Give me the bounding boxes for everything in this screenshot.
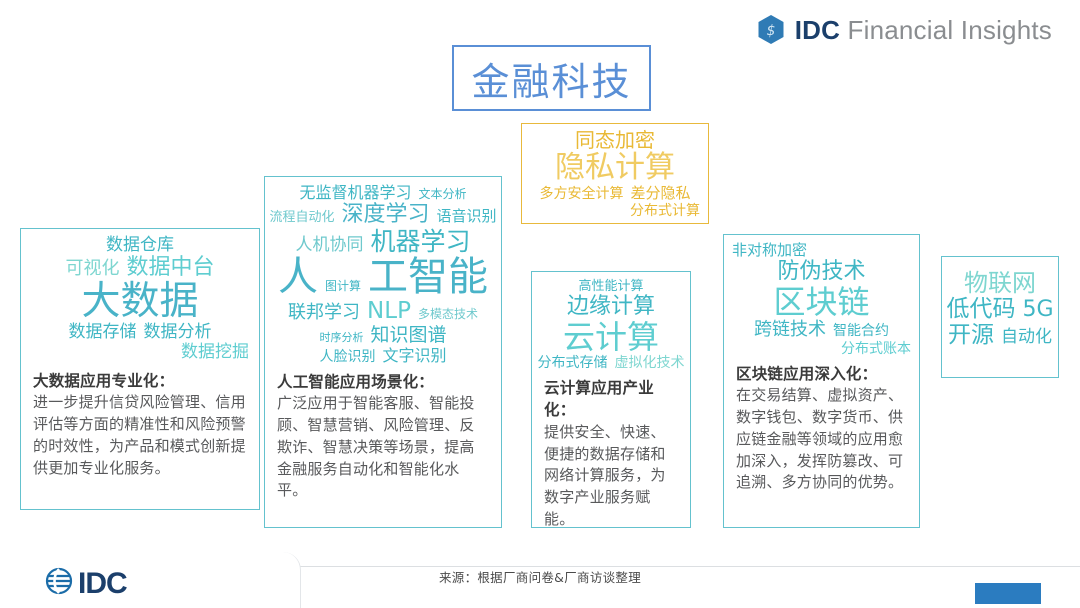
wordcloud-term: 工智能 — [368, 257, 488, 297]
wordcloud-term: 流程自动化 — [269, 211, 334, 224]
card-text: 提供安全、快速、便捷的数据存储和网络计算服务，为数字产业服务赋能。 — [544, 422, 678, 531]
wordcloud-term: 5G — [1022, 299, 1053, 321]
wordcloud-cloud-computing: 高性能计算边缘计算云计算分布式存储虚拟化技术 — [532, 272, 690, 377]
wordcloud-term: 自动化 — [1001, 329, 1052, 346]
wordcloud-row: 人机协同机器学习 — [273, 229, 493, 254]
card-heading: 云计算应用产业化： — [544, 377, 678, 422]
wordcloud-term: 数据存储 — [69, 324, 137, 341]
brand-name: IDC Financial Insights — [795, 17, 1052, 43]
idc-hexagon-dollar-icon: $ — [757, 14, 785, 45]
wordcloud-row: 分布式存储虚拟化技术 — [538, 356, 684, 370]
wordcloud-iot-others: 物联网低代码5G开源自动化 — [942, 257, 1058, 356]
card-heading: 大数据应用专业化： — [33, 370, 247, 392]
wordcloud-term: 时序分析 — [319, 332, 363, 343]
wordcloud-row: 非对称加密 — [732, 243, 911, 258]
wordcloud-row: 时序分析知识图谱 — [273, 326, 493, 345]
wordcloud-term: 人 — [278, 257, 318, 297]
wordcloud-row: 边缘计算 — [538, 296, 684, 318]
wordcloud-term: 人脸识别 — [319, 350, 375, 364]
card-big-data[interactable]: 数据仓库可视化数据中台大数据数据存储数据分析数据挖掘 大数据应用专业化： 进一步… — [20, 228, 260, 510]
card-body-blockchain: 区块链应用深入化： 在交易结算、虚拟资产、数字钱包、数字货币、供应链金融等领域的… — [724, 363, 919, 504]
card-body-cloud-computing: 云计算应用产业化： 提供安全、快速、便捷的数据存储和网络计算服务，为数字产业服务… — [532, 377, 690, 541]
wordcloud-term: 高性能计算 — [578, 280, 643, 293]
wordcloud-row: 区块链 — [732, 286, 911, 318]
wordcloud-term: 大数据 — [81, 282, 198, 321]
wordcloud-term: 开源 — [948, 324, 994, 347]
wordcloud-term: 分布式存储 — [538, 356, 608, 370]
card-iot-others[interactable]: 物联网低代码5G开源自动化 — [941, 256, 1059, 378]
wordcloud-term: 防伪技术 — [777, 261, 865, 283]
wordcloud-term: 联邦学习 — [288, 304, 360, 322]
wordcloud-term: 数据挖掘 — [181, 344, 249, 361]
wordcloud-term: 智能合约 — [833, 324, 889, 338]
wordcloud-row: 人图计算工智能 — [273, 257, 493, 297]
wordcloud-term: 人机协同 — [295, 237, 363, 254]
wordcloud-term: 边缘计算 — [567, 296, 655, 318]
brand-header: $ IDC Financial Insights — [757, 14, 1052, 45]
wordcloud-row: 隐私计算 — [530, 153, 700, 183]
wordcloud-term: 语音识别 — [437, 209, 497, 224]
wordcloud-term: 非对称加密 — [732, 243, 807, 258]
wordcloud-term: 深度学习 — [342, 204, 430, 226]
wordcloud-term: 知识图谱 — [370, 326, 446, 345]
wordcloud-row: 分布式计算 — [530, 204, 700, 218]
card-heading: 人工智能应用场景化： — [277, 371, 489, 393]
wordcloud-row: 数据存储数据分析 — [31, 324, 249, 341]
wordcloud-term: 区块链 — [773, 286, 869, 318]
page-title: 金融科技 — [452, 45, 651, 111]
wordcloud-term: 机器学习 — [370, 229, 470, 254]
card-blockchain[interactable]: 非对称加密防伪技术区块链跨链技术智能合约分布式账本 区块链应用深入化： 在交易结… — [723, 234, 920, 528]
brand-idc-text: IDC — [795, 15, 840, 45]
wordcloud-term: 低代码 — [946, 298, 1015, 321]
card-heading: 区块链应用深入化： — [736, 363, 907, 385]
wordcloud-row: 数据挖掘 — [31, 344, 249, 361]
wordcloud-row: 流程自动化深度学习语音识别 — [273, 204, 493, 226]
wordcloud-blockchain: 非对称加密防伪技术区块链跨链技术智能合约分布式账本 — [724, 235, 919, 363]
wordcloud-term: 多方安全计算 — [539, 187, 623, 201]
card-artificial-intelligence[interactable]: 无监督机器学习文本分析流程自动化深度学习语音识别人机协同机器学习人图计算工智能联… — [264, 176, 502, 528]
wordcloud-term: 分布式账本 — [841, 342, 911, 356]
svg-text:$: $ — [766, 23, 775, 39]
card-body-artificial-intelligence: 人工智能应用场景化： 广泛应用于智能客服、智能投顾、智慧营销、风险管理、反欺诈、… — [265, 371, 501, 512]
slide-canvas: $ IDC Financial Insights 金融科技 数据仓库可视化数据中… — [0, 0, 1080, 608]
wordcloud-row: 人脸识别文字识别 — [273, 348, 493, 364]
wordcloud-big-data: 数据仓库可视化数据中台大数据数据存储数据分析数据挖掘 — [21, 229, 259, 370]
source-note: 来源：根据厂商问卷&厂商访谈整理 — [0, 567, 1080, 586]
card-privacy-computing[interactable]: 同态加密隐私计算多方安全计算差分隐私分布式计算 — [521, 123, 709, 224]
wordcloud-row: 开源自动化 — [948, 324, 1052, 347]
wordcloud-row: 高性能计算 — [538, 280, 684, 293]
card-text: 在交易结算、虚拟资产、数字钱包、数字货币、供应链金融等领域的应用愈加深入，发挥防… — [736, 385, 907, 494]
wordcloud-row: 数据仓库 — [31, 237, 249, 254]
wordcloud-row: 防伪技术 — [732, 261, 911, 283]
footer-accent-block — [975, 583, 1041, 604]
wordcloud-term: 差分隐私 — [630, 186, 690, 201]
wordcloud-term: 数据分析 — [144, 324, 212, 341]
wordcloud-term: 跨链技术 — [754, 321, 826, 339]
wordcloud-artificial-intelligence: 无监督机器学习文本分析流程自动化深度学习语音识别人机协同机器学习人图计算工智能联… — [265, 177, 501, 371]
wordcloud-term: 虚拟化技术 — [615, 356, 685, 370]
wordcloud-term: NLP — [367, 300, 411, 323]
wordcloud-term: 数据仓库 — [106, 237, 174, 254]
wordcloud-row: 无监督机器学习文本分析 — [273, 185, 493, 201]
wordcloud-row: 跨链技术智能合约 — [732, 321, 911, 339]
card-text: 广泛应用于智能客服、智能投顾、智慧营销、风险管理、反欺诈、智慧决策等场景，提高金… — [277, 393, 489, 502]
wordcloud-row: 同态加密 — [530, 130, 700, 150]
wordcloud-term: 图计算 — [325, 280, 361, 292]
wordcloud-row: 分布式账本 — [732, 342, 911, 356]
wordcloud-row: 大数据 — [31, 282, 249, 321]
wordcloud-term: 可视化 — [65, 260, 119, 278]
wordcloud-term: 无监督机器学习 — [299, 185, 411, 201]
wordcloud-term: 多模态技术 — [418, 308, 478, 320]
wordcloud-row: 云计算 — [538, 321, 684, 353]
wordcloud-term: 文本分析 — [419, 188, 467, 200]
wordcloud-term: 物联网 — [964, 271, 1036, 295]
wordcloud-row: 可视化数据中台 — [31, 257, 249, 279]
page-title-text: 金融科技 — [471, 51, 631, 106]
wordcloud-term: 文字识别 — [382, 348, 446, 364]
wordcloud-term: 数据中台 — [126, 257, 214, 279]
card-body-big-data: 大数据应用专业化： 进一步提升信贷风险管理、信用评估等方面的精准性和风险预警的时… — [21, 370, 259, 489]
wordcloud-row: 低代码5G — [948, 298, 1052, 321]
wordcloud-row: 物联网 — [948, 271, 1052, 295]
wordcloud-term: 云计算 — [563, 321, 659, 353]
wordcloud-term: 分布式计算 — [630, 204, 700, 218]
card-cloud-computing[interactable]: 高性能计算边缘计算云计算分布式存储虚拟化技术 云计算应用产业化： 提供安全、快速… — [531, 271, 691, 528]
wordcloud-term: 隐私计算 — [555, 153, 675, 183]
card-text: 进一步提升信贷风险管理、信用评估等方面的精准性和风险预警的时效性，为产品和模式创… — [33, 392, 247, 479]
brand-financial-insights-text: Financial Insights — [848, 15, 1052, 45]
wordcloud-row: 多方安全计算差分隐私 — [530, 186, 700, 201]
wordcloud-privacy-computing: 同态加密隐私计算多方安全计算差分隐私分布式计算 — [522, 124, 708, 225]
wordcloud-row: 联邦学习NLP多模态技术 — [273, 300, 493, 323]
wordcloud-term: 同态加密 — [575, 130, 655, 150]
